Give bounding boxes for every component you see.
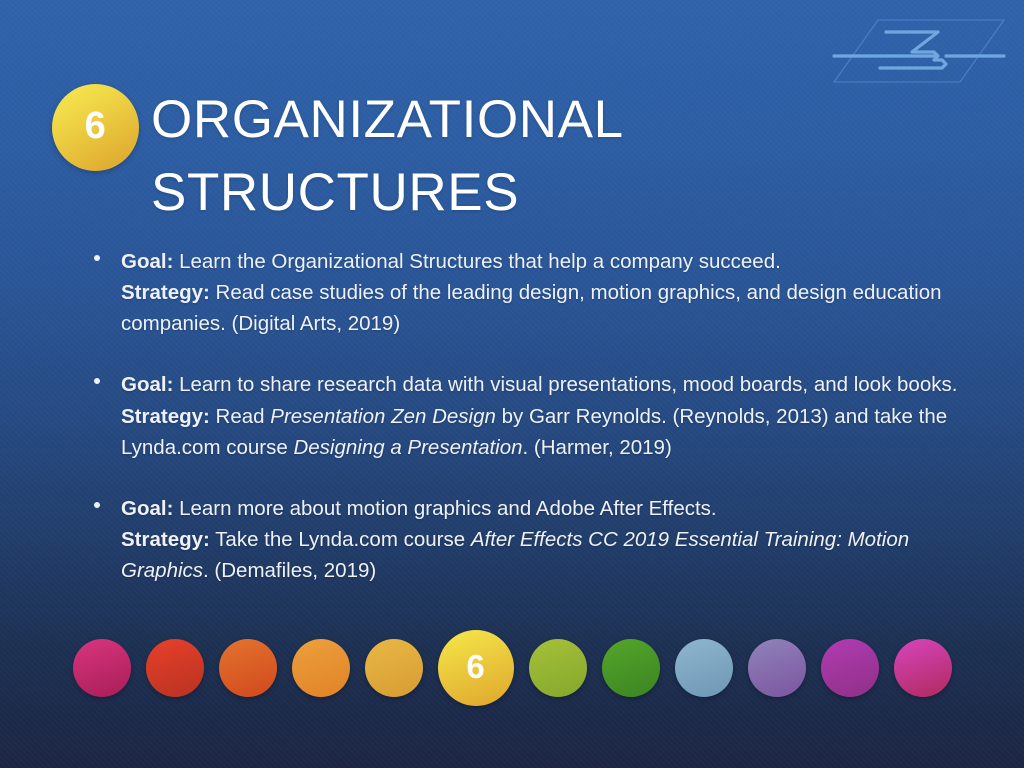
progress-dot[interactable] — [529, 639, 587, 697]
bullet-body-text: Take the Lynda.com course — [210, 528, 471, 551]
list-item: Goal: Learn the Organizational Structure… — [88, 246, 968, 339]
progress-dot[interactable] — [602, 639, 660, 697]
progress-dot[interactable] — [73, 639, 131, 697]
bullet-lead-label: Strategy: — [121, 281, 210, 304]
progress-dot[interactable] — [821, 639, 879, 697]
list-item: Goal: Learn to share research data with … — [88, 369, 968, 462]
bullet-body-text: Read case studies of the leading design,… — [121, 281, 942, 335]
logo-z-glyph — [880, 32, 946, 68]
progress-dot-active[interactable]: 6 — [438, 630, 514, 706]
bullet-body-text: . (Demafiles, 2019) — [203, 559, 376, 582]
bullet-text: Goal: Learn to share research data with … — [121, 369, 968, 462]
bullet-lead-label: Strategy: — [121, 528, 210, 551]
bullet-lead-label: Goal: — [121, 373, 173, 396]
bullet-dot-icon — [94, 255, 100, 261]
bullet-text: Goal: Learn more about motion graphics a… — [121, 493, 968, 586]
bullet-title-italic: Designing a Presentation — [293, 436, 522, 459]
bullet-body-text: Learn more about motion graphics and Ado… — [173, 497, 716, 520]
title-number-badge-label: 6 — [52, 84, 139, 171]
title-number-badge: 6 — [52, 84, 139, 171]
bullet-list: Goal: Learn the Organizational Structure… — [88, 246, 968, 586]
progress-dot[interactable] — [292, 639, 350, 697]
slide-title-block: 6 ORGANIZATIONAL STRUCTURES — [52, 84, 952, 229]
slide-progress-indicator: 6 — [0, 628, 1024, 708]
bullet-dot-icon — [94, 502, 100, 508]
bullet-dot-icon — [94, 378, 100, 384]
bullet-title-italic: Presentation Zen Design — [270, 405, 496, 428]
presentation-slide: 6 ORGANIZATIONAL STRUCTURES Goal: Learn … — [0, 0, 1024, 768]
progress-dot[interactable] — [146, 639, 204, 697]
progress-dot[interactable] — [365, 639, 423, 697]
bullet-text: Goal: Learn the Organizational Structure… — [121, 246, 968, 339]
bullet-body-text: . (Harmer, 2019) — [523, 436, 672, 459]
progress-dot[interactable] — [748, 639, 806, 697]
progress-dot[interactable] — [219, 639, 277, 697]
list-item: Goal: Learn more about motion graphics a… — [88, 493, 968, 586]
progress-dot-label: 6 — [466, 648, 484, 688]
bullet-body-text: Read — [210, 405, 270, 428]
bullet-body-text: Learn the Organizational Structures that… — [173, 250, 780, 273]
bullet-lead-label: Goal: — [121, 497, 173, 520]
bullet-body-text: Learn to share research data with visual… — [173, 373, 957, 396]
progress-dot[interactable] — [675, 639, 733, 697]
parallelogram-z-logo — [826, 12, 1012, 88]
progress-dot[interactable] — [894, 639, 952, 697]
bullet-lead-label: Goal: — [121, 250, 173, 273]
page-title: ORGANIZATIONAL STRUCTURES — [52, 84, 952, 229]
bullet-lead-label: Strategy: — [121, 405, 210, 428]
